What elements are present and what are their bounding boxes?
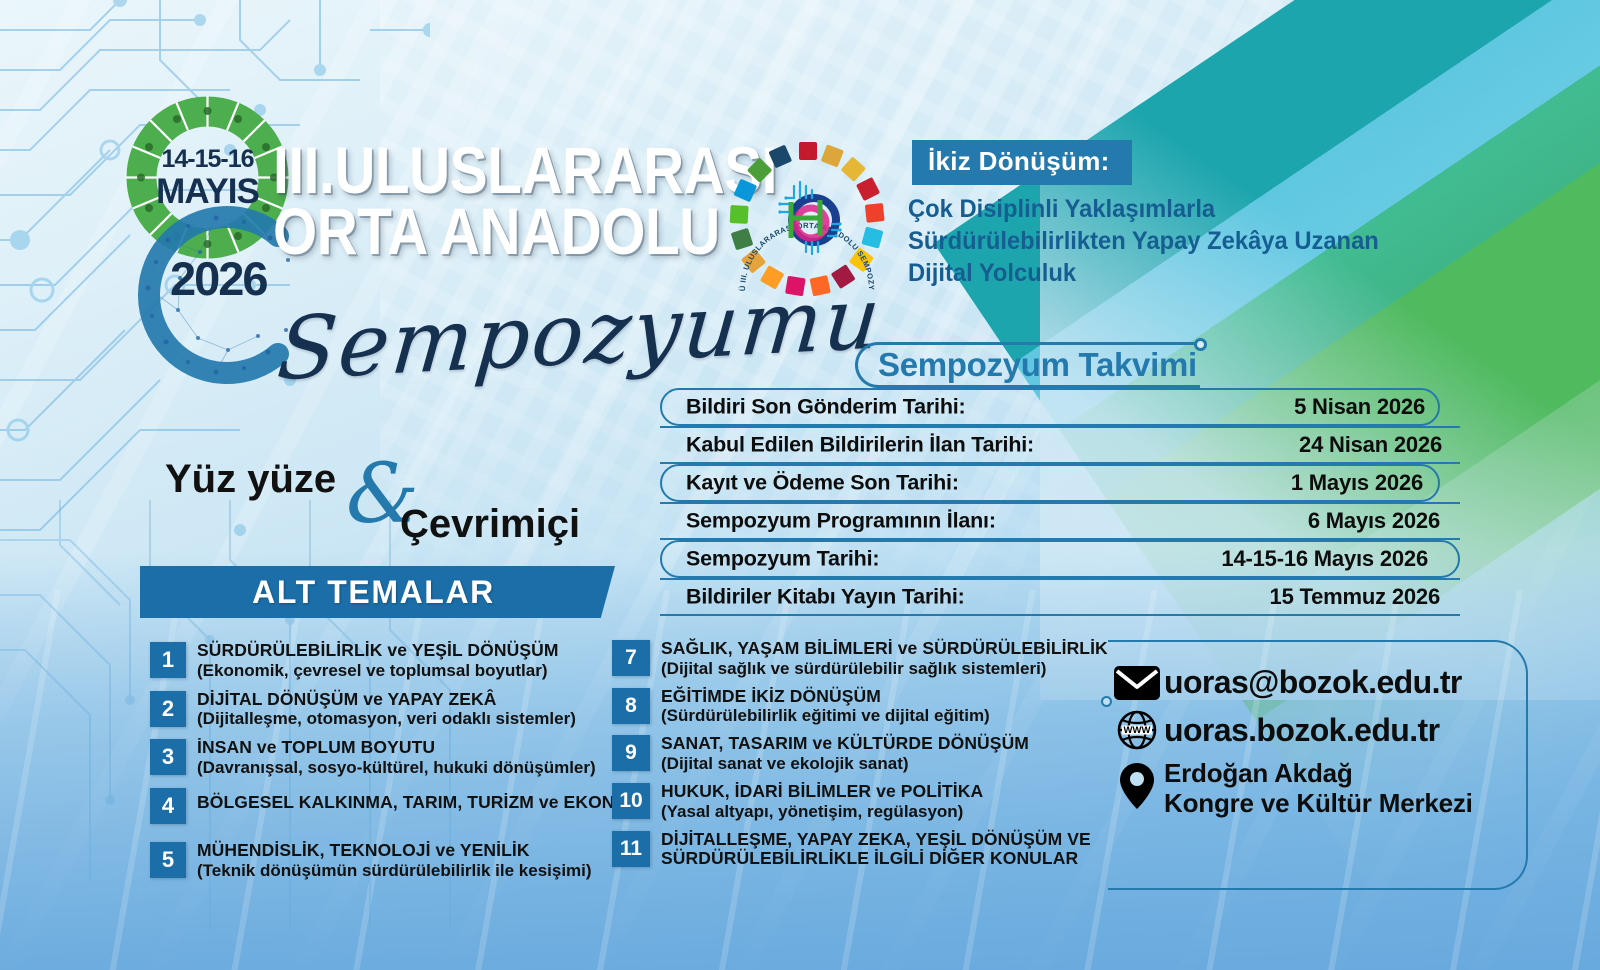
calendar-row-date: 6 Mayıs 2026 — [1308, 508, 1440, 534]
theme-number: 5 — [150, 842, 186, 878]
globe-www-icon: WWW — [1110, 710, 1164, 750]
theme-number: 7 — [612, 640, 650, 676]
envelope-icon — [1110, 666, 1164, 700]
theme-title-continued: SÜRDÜRÜLEBİLİRLİKLE İLGİLİ DİĞER KONULAR — [661, 849, 1091, 869]
theme-item: 8 EĞİTİMDE İKİZ DÖNÜŞÜM (Sürdürülebilirl… — [612, 686, 1082, 727]
date-days: 14-15-16 — [161, 147, 253, 172]
theme-item: 5 MÜHENDİSLİK, TEKNOLOJİ ve YENİLİK (Tek… — [150, 840, 640, 881]
online-label: Çevrimiçi — [400, 502, 580, 547]
contact-website-row[interactable]: WWW uoras.bozok.edu.tr — [1110, 710, 1530, 750]
theme-title: DİJİTAL DÖNÜŞÜM ve YAPAY ZEKÂ — [197, 690, 576, 710]
theme-number: 1 — [150, 642, 186, 678]
theme-title: SAĞLIK, YAŞAM BİLİMLERİ ve SÜRDÜRÜLEBİLİ… — [661, 639, 1108, 659]
calendar-row-label: Sempozyum Programının İlanı: — [686, 509, 996, 534]
theme-number: 9 — [612, 735, 650, 771]
subtitle-line-2: Sürdürülebilirlikten Yapay Zekâya Uzanan — [908, 225, 1379, 257]
symposium-year: 2026 — [170, 255, 267, 302]
theme-number: 11 — [612, 831, 650, 867]
symposium-subtitle: Çok Disiplinli Yaklaşımlarla Sürdürülebi… — [908, 193, 1379, 289]
title-line-2: ORTA ANADOLU — [273, 201, 777, 262]
theme-subtitle: (Teknik dönüşümün sürdürülebilirlik ile … — [197, 861, 592, 881]
contact-email: uoras@bozok.edu.tr — [1164, 664, 1462, 701]
calendar-row-date: 14-15-16 Mayıs 2026 — [1221, 546, 1428, 572]
calendar-heading-label: Sempozyum Takvimi — [858, 346, 1197, 384]
calendar-row-date: 5 Nisan 2026 — [1294, 394, 1425, 420]
calendar-row: Kayıt ve Ödeme Son Tarihi: 1 Mayıs 2026 — [660, 464, 1460, 502]
theme-subtitle: (Ekonomik, çevresel ve toplumsal boyutla… — [197, 661, 559, 681]
theme-title: HUKUK, İDARİ BİLİMLER ve POLİTİKA — [661, 782, 983, 802]
calendar-row-label: Kabul Edilen Bildirilerin İlan Tarihi: — [686, 433, 1034, 458]
theme-title: DİJİTALLEŞME, YAPAY ZEKA, YEŞİL DÖNÜŞÜM … — [661, 830, 1091, 850]
calendar-row: Bildiriler Kitabı Yayın Tarihi: 15 Temmu… — [660, 578, 1460, 616]
symposium-poster: 14-15-16 MAYIS 2026 III.ULUSLARARASI ORT… — [0, 0, 1600, 970]
theme-subtitle: (Yasal altyapı, yönetişim, regülasyon) — [661, 802, 983, 822]
theme-title: SÜRDÜRÜLEBİLİRLİK ve YEŞİL DÖNÜŞÜM — [197, 641, 559, 661]
theme-number: 4 — [150, 788, 186, 824]
theme-item: 1 SÜRDÜRÜLEBİLİRLİK ve YEŞİL DÖNÜŞÜM (Ek… — [150, 640, 640, 681]
calendar-heading-node-icon — [1194, 338, 1207, 351]
theme-title: BÖLGESEL KALKINMA, TARIM, TURİZM ve EKON… — [197, 793, 648, 813]
theme-item: 10 HUKUK, İDARİ BİLİMLER ve POLİTİKA (Ya… — [612, 781, 1082, 822]
theme-item: 3 İNSAN ve TOPLUM BOYUTU (Davranışsal, s… — [150, 737, 640, 778]
face-to-face-label: Yüz yüze — [165, 457, 336, 502]
calendar-row: Bildiri Son Gönderim Tarihi: 5 Nisan 202… — [660, 388, 1460, 426]
theme-subtitle: (Dijitalleşme, otomasyon, veri odaklı si… — [197, 709, 576, 729]
theme-number: 2 — [150, 691, 186, 727]
theme-item: 2 DİJİTAL DÖNÜŞÜM ve YAPAY ZEKÂ (Dijital… — [150, 689, 640, 730]
calendar-row-date: 15 Temmuz 2026 — [1270, 584, 1440, 610]
svg-text:WWW: WWW — [1124, 725, 1151, 736]
venue-line-1: Erdoğan Akdağ — [1164, 759, 1473, 789]
alt-temalar-banner: ALT TEMALAR — [140, 566, 615, 618]
calendar-heading-pill: Sempozyum Takvimi — [855, 342, 1200, 388]
venue-line-2: Kongre ve Kültür Merkezi — [1164, 789, 1473, 819]
calendar-row-label: Bildiriler Kitabı Yayın Tarihi: — [686, 585, 965, 610]
calendar-row: Sempozyum Programının İlanı: 6 Mayıs 202… — [660, 502, 1460, 540]
map-pin-icon — [1110, 759, 1164, 809]
theme-list-right: 7 SAĞLIK, YAŞAM BİLİMLERİ ve SÜRDÜRÜLEBİ… — [612, 638, 1082, 876]
symposium-calendar: Bildiri Son Gönderim Tarihi: 5 Nisan 202… — [660, 388, 1460, 616]
theme-number: 8 — [612, 688, 650, 724]
theme-item: 9 SANAT, TASARIM ve KÜLTÜRDE DÖNÜŞÜM (Di… — [612, 733, 1082, 774]
theme-subtitle: (Dijital sanat ve ekolojik sanat) — [661, 754, 1029, 774]
theme-subtitle: (Sürdürülebilirlik eğitimi ve dijital eğ… — [661, 706, 990, 726]
theme-title: İNSAN ve TOPLUM BOYUTU — [197, 738, 596, 758]
alt-temalar-label: ALT TEMALAR — [252, 574, 503, 611]
ikiz-donusum-badge: İkiz Dönüşüm: — [912, 140, 1132, 185]
subtitle-line-3: Dijital Yolculuk — [908, 257, 1379, 289]
theme-number: 3 — [150, 739, 186, 775]
title-line-1: III.ULUSLARARASI — [273, 140, 777, 201]
theme-number: 10 — [612, 783, 650, 819]
calendar-row: Sempozyum Tarihi: 14-15-16 Mayıs 2026 — [660, 540, 1460, 578]
attendance-mode-block: Yüz yüze & Çevrimiçi — [165, 455, 605, 565]
ikiz-donusum-label: İkiz Dönüşüm: — [928, 146, 1110, 176]
theme-title: SANAT, TASARIM ve KÜLTÜRDE DÖNÜŞÜM — [661, 734, 1029, 754]
contact-info: uoras@bozok.edu.tr WWW uoras.bozok.edu.t… — [1110, 664, 1530, 828]
theme-subtitle: (Dijital sağlık ve sürdürülebilir sağlık… — [661, 659, 1108, 679]
theme-item: 7 SAĞLIK, YAŞAM BİLİMLERİ ve SÜRDÜRÜLEBİ… — [612, 638, 1082, 679]
theme-title: MÜHENDİSLİK, TEKNOLOJİ ve YENİLİK — [197, 841, 592, 861]
symposium-sdg-logo-icon: YOBÜ III. ULUSLARARASI ORTA ANADOLU SEMP… — [728, 140, 886, 298]
theme-item: 4 BÖLGESEL KALKINMA, TARIM, TURİZM ve EK… — [150, 786, 640, 824]
calendar-row-date: 24 Nisan 2026 — [1299, 432, 1442, 458]
contact-venue-row: Erdoğan Akdağ Kongre ve Kültür Merkezi — [1110, 759, 1530, 819]
subtitle-line-1: Çok Disiplinli Yaklaşımlarla — [908, 193, 1379, 225]
theme-subtitle: (Davranışsal, sosyo-kültürel, hukuki dön… — [197, 758, 596, 778]
calendar-row: Kabul Edilen Bildirilerin İlan Tarihi: 2… — [660, 426, 1460, 464]
contact-email-row[interactable]: uoras@bozok.edu.tr — [1110, 664, 1530, 701]
calendar-row-date: 1 Mayıs 2026 — [1291, 470, 1423, 496]
contact-website: uoras.bozok.edu.tr — [1164, 712, 1439, 749]
calendar-row-label: Sempozyum Tarihi: — [686, 547, 879, 572]
calendar-row-label: Bildiri Son Gönderim Tarihi: — [686, 395, 966, 420]
theme-list-left: 1 SÜRDÜRÜLEBİLİRLİK ve YEŞİL DÖNÜŞÜM (Ek… — [150, 640, 640, 889]
calendar-row-label: Kayıt ve Ödeme Son Tarihi: — [686, 471, 959, 496]
theme-item: 11 DİJİTALLEŞME, YAPAY ZEKA, YEŞİL DÖNÜŞ… — [612, 829, 1082, 869]
theme-title: EĞİTİMDE İKİZ DÖNÜŞÜM — [661, 687, 990, 707]
